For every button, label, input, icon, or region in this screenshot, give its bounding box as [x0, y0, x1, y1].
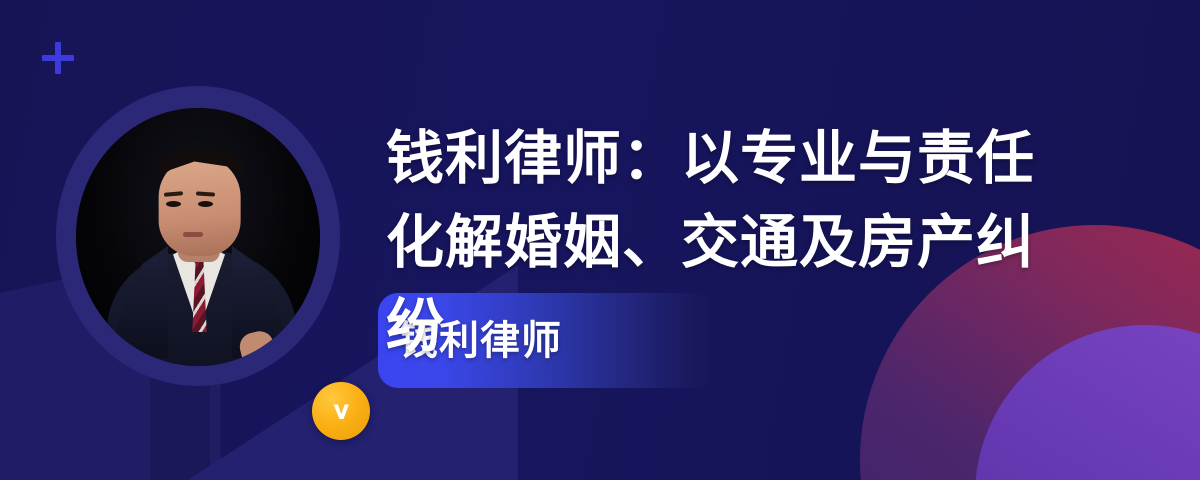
verified-v-icon [312, 382, 370, 440]
avatar-photo [76, 108, 320, 366]
plus-icon [42, 42, 74, 74]
portrait-eye-right [198, 201, 213, 207]
name-badge-label: 钱利律师 [378, 321, 562, 361]
portrait-mouth [183, 232, 203, 237]
portrait-eye-left [166, 201, 181, 207]
name-badge: 钱利律师 [378, 293, 714, 388]
avatar [56, 86, 340, 386]
promo-banner: 钱利律师 钱利律师：以专业与责任化解婚姻、交通及房产纠纷 [0, 0, 1200, 480]
